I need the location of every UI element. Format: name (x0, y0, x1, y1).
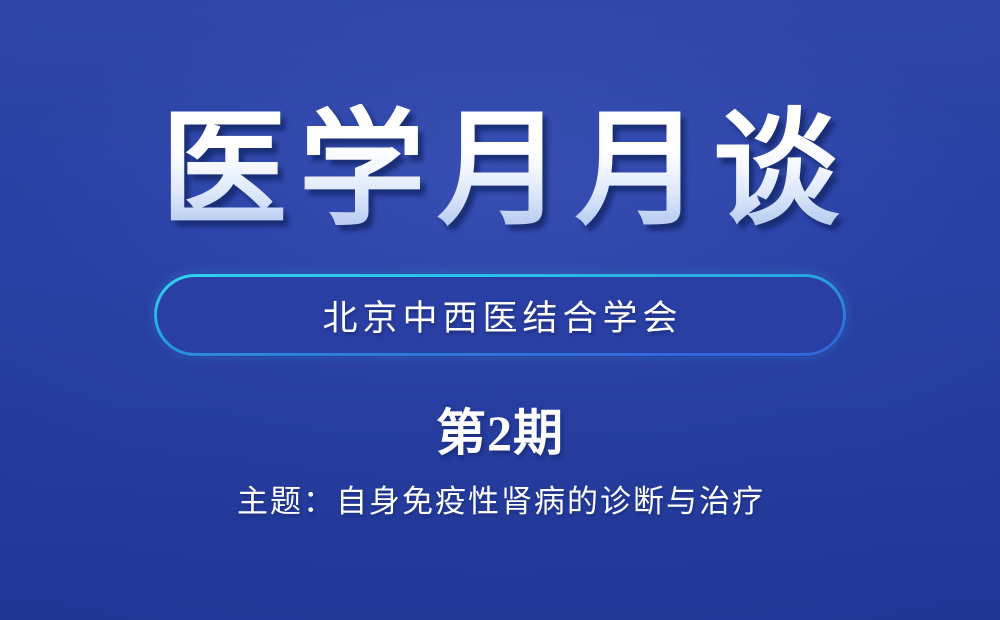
poster-title-text: 医学月月谈 (149, 104, 851, 240)
episode-number: 第2期 (436, 408, 564, 458)
organization-badge: 北京中西医结合学会 (154, 274, 846, 356)
poster-content-stack: 医学月月谈 医学月月谈 北京中西医结合学会 第2期 主题：自身免疫性肾病的诊断与… (0, 0, 1000, 520)
poster-slide: 医学月月谈 医学月月谈 北京中西医结合学会 第2期 主题：自身免疫性肾病的诊断与… (0, 0, 1000, 620)
episode-theme: 主题：自身免疫性肾病的诊断与治疗 (235, 484, 765, 520)
organization-name: 北京中西医结合学会 (317, 290, 682, 341)
